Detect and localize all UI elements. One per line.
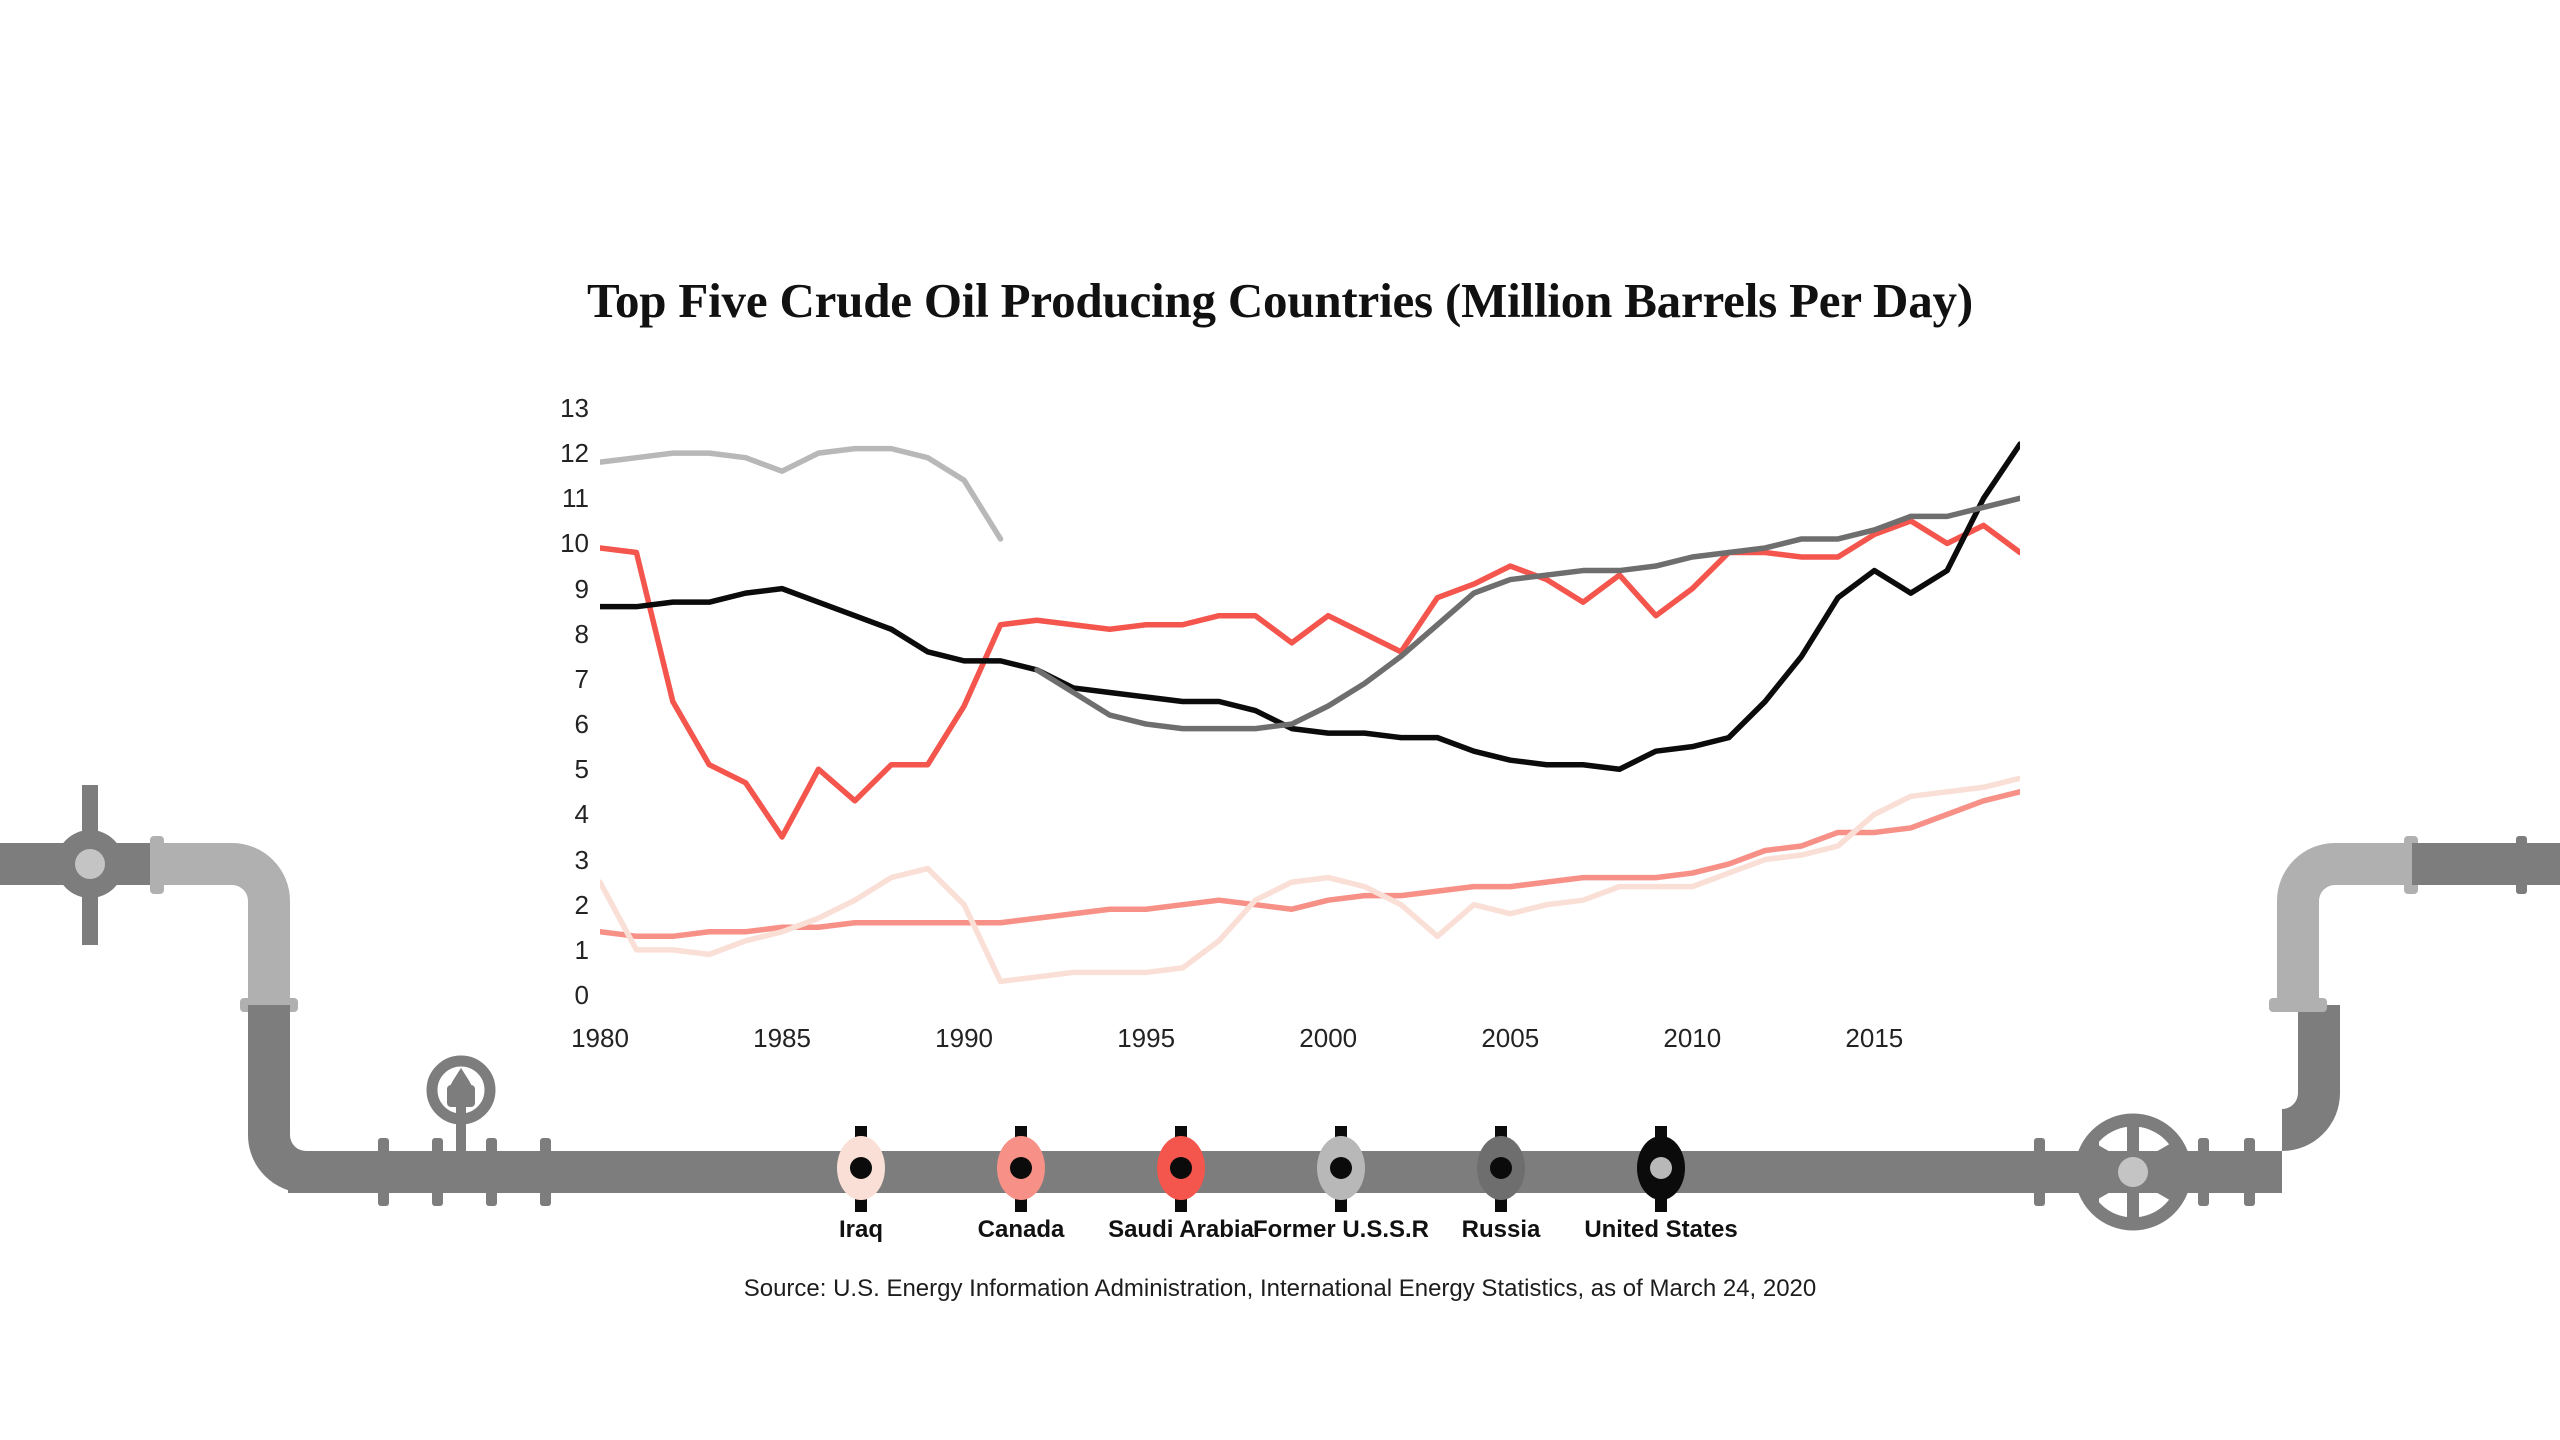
y-axis-tick-label: 6 [537, 711, 589, 737]
x-axis-tick-label: 2010 [1632, 1025, 1752, 1051]
legend-valve-core [1170, 1157, 1192, 1179]
series-line [600, 449, 1001, 539]
legend-valve-core [1010, 1157, 1032, 1179]
series-line [1037, 498, 2020, 728]
legend-valve-core [1490, 1157, 1512, 1179]
series-line [600, 444, 2020, 769]
y-axis-tick-label: 4 [537, 801, 589, 827]
legend-color-swatch [1317, 1136, 1365, 1200]
y-axis-tick-label: 0 [537, 982, 589, 1008]
legend-valve-core [1330, 1157, 1352, 1179]
x-axis-tick-label: 2005 [1450, 1025, 1570, 1051]
page-title: Top Five Crude Oil Producing Countries (… [0, 272, 2560, 329]
legend-item-label: United States [1561, 1216, 1761, 1244]
x-axis-tick-label: 2015 [1814, 1025, 1934, 1051]
y-axis-tick-label: 8 [537, 621, 589, 647]
series-line [600, 521, 2020, 837]
legend-valve-icon [1561, 1120, 1761, 1212]
legend-valve-core [1650, 1157, 1672, 1179]
cross-valve-icon [56, 785, 124, 945]
x-axis-tick-label: 2000 [1268, 1025, 1388, 1051]
source-note: Source: U.S. Energy Information Administ… [0, 1275, 2560, 1303]
y-axis-tick-label: 2 [537, 892, 589, 918]
y-axis-tick-label: 3 [537, 847, 589, 873]
x-axis-tick-label: 1980 [540, 1025, 660, 1051]
y-axis-tick-label: 5 [537, 756, 589, 782]
legend-color-swatch [1637, 1136, 1685, 1200]
x-axis-tick-label: 1985 [722, 1025, 842, 1051]
legend-color-swatch [1157, 1136, 1205, 1200]
legend-color-swatch [837, 1136, 885, 1200]
y-axis-tick-label: 9 [537, 576, 589, 602]
chart-lines [600, 395, 2020, 1005]
series-line [600, 792, 2020, 936]
legend-item[interactable]: United States [1561, 1120, 1761, 1212]
line-chart [600, 395, 2020, 1005]
x-axis-tick-label: 1995 [1086, 1025, 1206, 1051]
y-axis-tick-label: 10 [537, 530, 589, 556]
series-line [600, 778, 2020, 981]
y-axis-tick-label: 11 [537, 485, 589, 511]
legend-color-swatch [1477, 1136, 1525, 1200]
y-axis-tick-label: 12 [537, 440, 589, 466]
x-axis-tick-label: 1990 [904, 1025, 1024, 1051]
legend-valve-core [850, 1157, 872, 1179]
infographic-canvas: Top Five Crude Oil Producing Countries (… [0, 0, 2560, 1440]
y-axis-tick-label: 7 [537, 666, 589, 692]
legend-color-swatch [997, 1136, 1045, 1200]
y-axis-tick-label: 13 [537, 395, 589, 421]
y-axis-tick-label: 1 [537, 937, 589, 963]
chart-legend: IraqCanadaSaudi ArabiaFormer U.S.S.RRuss… [0, 1120, 2560, 1270]
